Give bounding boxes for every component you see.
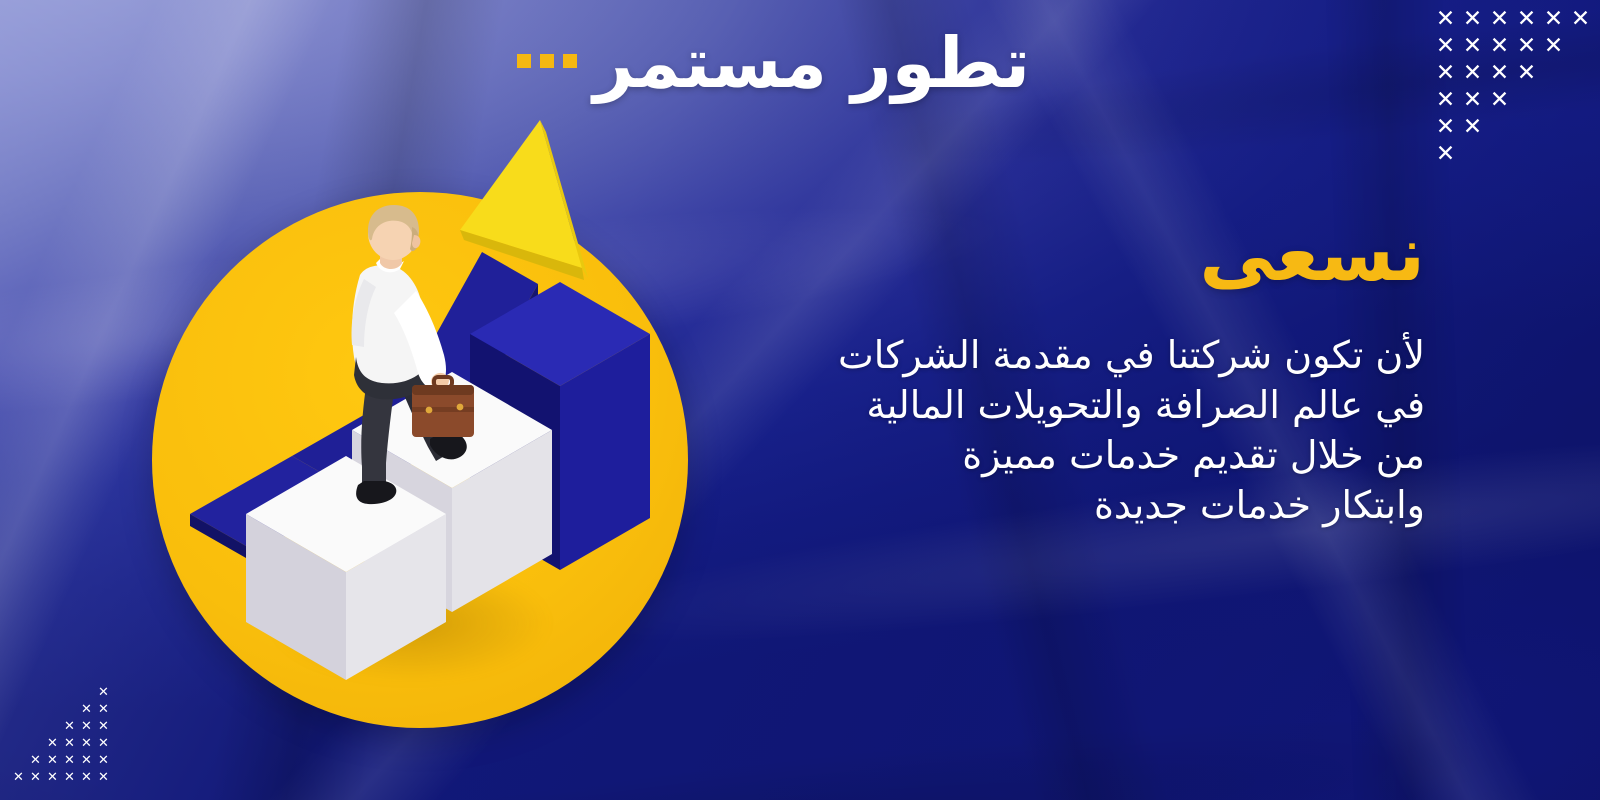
headline-ellipsis-dots	[517, 54, 577, 72]
illustration-businessman-climbing-steps	[152, 100, 712, 740]
copy-line-2: في عالم الصرافة والتحويلات المالية	[685, 380, 1425, 430]
copy-paragraph: لأن تكون شركتنا في مقدمة الشركاتفي عالم …	[685, 330, 1425, 530]
copy-block: نسعى لأن تكون شركتنا في مقدمة الشركاتفي …	[685, 216, 1425, 530]
businessman-figure	[324, 205, 474, 535]
ellipsis-dot-1	[563, 54, 577, 68]
headline-text: تطور مستمر	[593, 28, 1030, 98]
copy-line-3: من خلال تقديم خدمات مميزة	[685, 430, 1425, 480]
headline: تطور مستمر	[517, 28, 1030, 98]
briefcase-icon	[412, 377, 474, 437]
copy-line-1: لأن تكون شركتنا في مقدمة الشركات	[685, 330, 1425, 380]
copy-eyebrow: نسعى	[685, 216, 1425, 292]
copy-line-4: وابتكار خدمات جديدة	[685, 480, 1425, 530]
poster-canvas: ✕✕✕✕✕✕✕✕✕✕✕✕✕✕✕✕✕✕✕✕✕ ✕✕✕✕✕✕✕✕✕✕✕✕✕✕✕✕✕✕…	[0, 0, 1600, 800]
ellipsis-dot-3	[517, 54, 531, 68]
ellipsis-dot-2	[540, 54, 554, 68]
